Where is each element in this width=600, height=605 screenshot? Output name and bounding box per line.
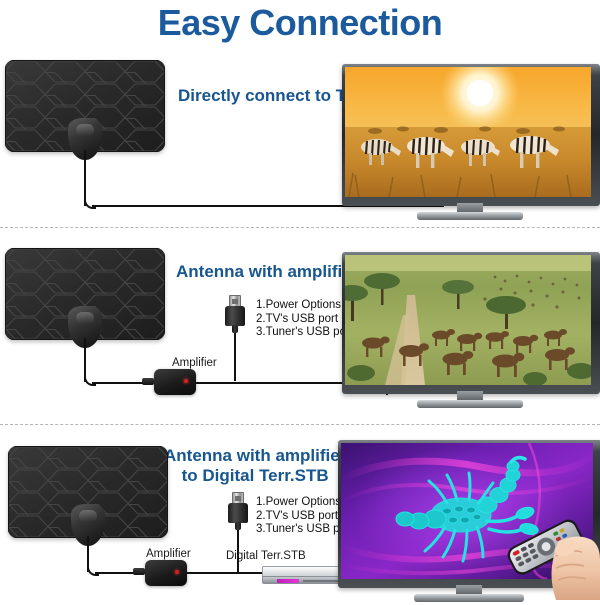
usb-power-options-2: 1.Power Options 2.TV's USB port 3.Tuner'… [256, 299, 353, 340]
usb-housing [228, 503, 248, 523]
infographic-canvas: Easy Connection Directly connect to TV [0, 0, 600, 600]
scene-wildebeest-migration [345, 255, 591, 385]
amplifier-label-3: Amplifier [146, 548, 191, 560]
usb-housing [225, 306, 245, 326]
section-2-heading: Antenna with amplifier [176, 262, 358, 282]
amp-to-stb-cable-3 [187, 572, 267, 574]
section-3-heading: Antenna with amplifier to Digital Terr.S… [164, 446, 346, 486]
usb-option-3: 3.Tuner's USB port [256, 326, 353, 340]
tv-base-1 [417, 212, 523, 220]
usb-plug-2 [225, 295, 245, 335]
section-divider-1 [0, 227, 600, 228]
antenna-to-amp-cable-2 [92, 382, 144, 384]
usb-strain-relief [235, 522, 241, 530]
tv-base-2 [417, 400, 523, 408]
amplifier-input-jack-3 [133, 568, 145, 575]
amplifier-led-icon [175, 570, 179, 574]
section-3-heading-line-1: Antenna with amplifier [164, 446, 346, 466]
section-1-heading: Directly connect to TV [178, 86, 357, 106]
flat-hdtv-antenna-3 [8, 446, 168, 538]
antenna-cable-corner-2 [84, 374, 96, 386]
section-divider-2 [0, 424, 600, 425]
tv-screen-2 [345, 255, 591, 385]
hand-holding-remote [506, 512, 600, 600]
flat-hdtv-antenna-2 [5, 248, 165, 340]
amplifier-led-icon [184, 379, 188, 383]
television-1 [342, 64, 598, 214]
amplifier-module-2 [154, 369, 196, 395]
section-3-heading-line-2: to Digital Terr.STB [164, 466, 346, 486]
amplifier-module-3 [145, 560, 187, 586]
amplifier-input-jack-2 [142, 378, 154, 385]
television-2 [342, 252, 598, 402]
usb-option-1: 1.Power Options [256, 299, 353, 313]
page-title: Easy Connection [0, 2, 600, 44]
usb-strain-relief [232, 325, 238, 333]
antenna-cable-corner-3 [87, 564, 99, 576]
scene-savanna-sunset-zebras [345, 67, 591, 197]
antenna-to-amp-cable-3 [95, 572, 135, 574]
usb-plug-3 [228, 492, 248, 532]
usb-option-2: 2.TV's USB port [256, 313, 353, 327]
amplifier-label-2: Amplifier [172, 357, 217, 369]
antenna-cable-corner-1 [84, 197, 96, 209]
stb-display [277, 579, 299, 583]
stb-label: Digital Terr.STB [226, 550, 306, 562]
tv-screen-1 [345, 67, 591, 197]
flat-hdtv-antenna-1 [5, 60, 165, 152]
remote-and-hand-illustration [506, 512, 600, 600]
usb-cable-2 [234, 333, 236, 381]
